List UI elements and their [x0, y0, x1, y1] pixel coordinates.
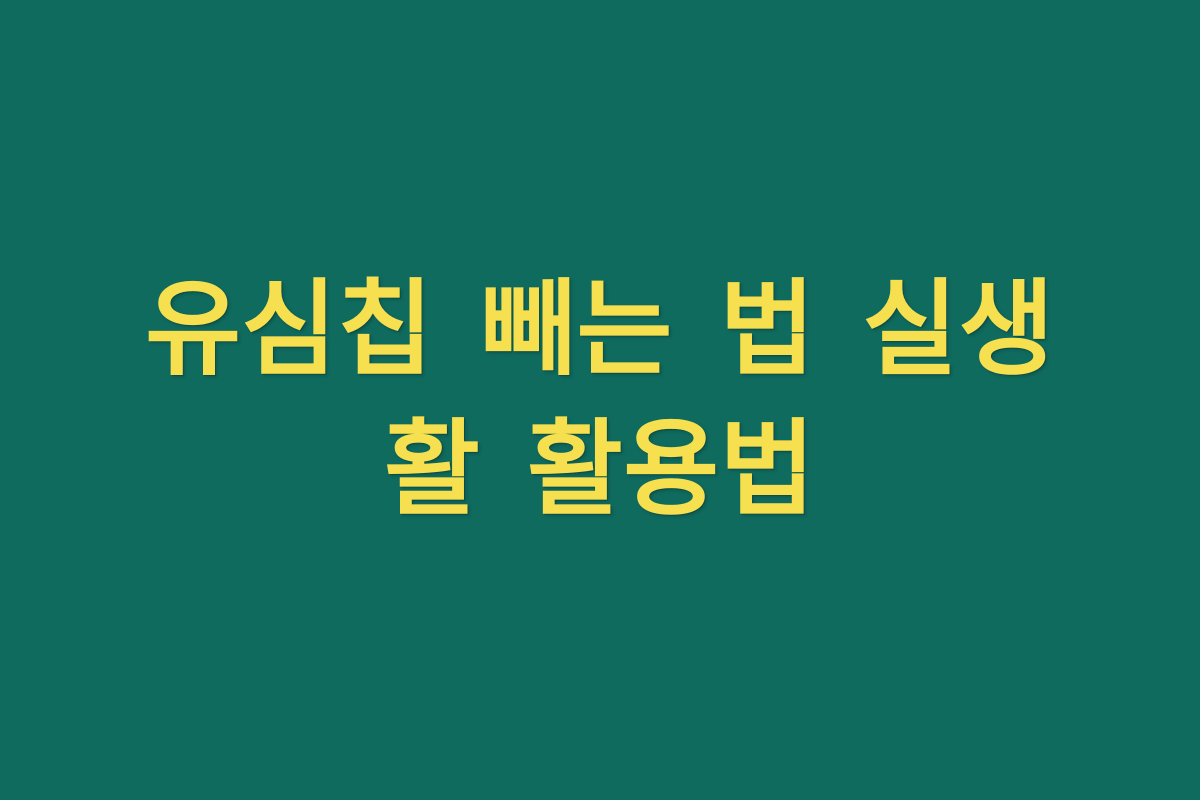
page-title: 유심칩 빼는 법 실생활 활용법 — [100, 259, 1100, 539]
headline-block: 유심칩 빼는 법 실생활 활용법 — [100, 259, 1100, 539]
thumbnail-banner: 유심칩 빼는 법 실생활 활용법 — [0, 0, 1200, 800]
